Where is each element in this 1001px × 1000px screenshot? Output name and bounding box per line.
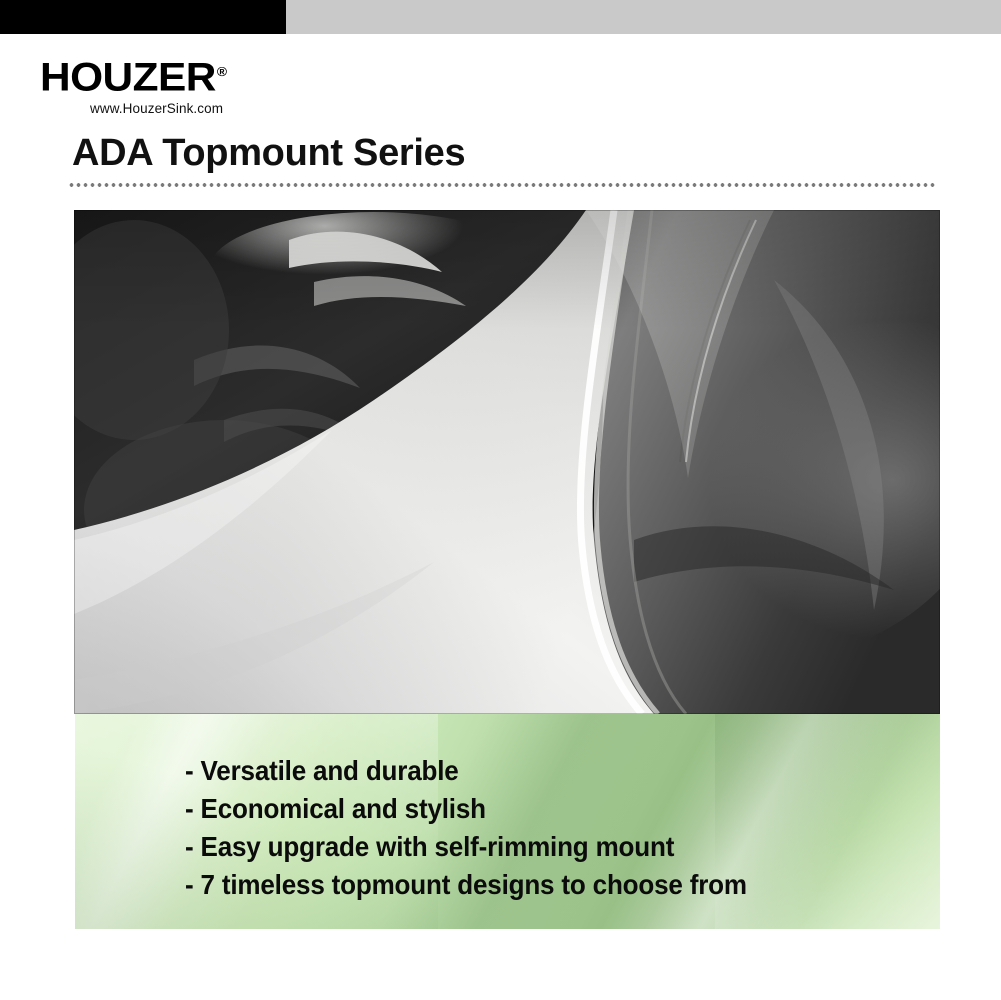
feature-bullet-item: - 7 timeless topmount designs to choose … [185,866,747,904]
brand-website-url: www.HouzerSink.com [90,101,280,116]
brand-logo: HOUZER® www.HouzerSink.com [40,52,280,116]
brochure-page: HOUZER® www.HouzerSink.com ADA Topmount … [0,0,1001,1000]
feature-bullet-list: - Versatile and durable - Economical and… [185,752,789,904]
top-bar-black-segment [0,0,286,34]
feature-bullet-item: - Economical and stylish [185,790,747,828]
hero-photo [74,210,940,714]
feature-panel: - Versatile and durable - Economical and… [75,714,940,929]
feature-bullet-item: - Versatile and durable [185,752,747,790]
dotted-divider [68,183,936,187]
brand-wordmark-text: HOUZER [40,55,216,99]
registered-trademark-icon: ® [217,64,227,79]
top-bar [0,0,1001,34]
hero-photo-artwork [74,210,940,714]
feature-bullet-item: - Easy upgrade with self-rimming mount [185,828,747,866]
top-bar-gray-segment [286,0,1001,34]
brand-wordmark: HOUZER® [40,52,294,97]
page-title: ADA Topmount Series [72,131,465,175]
